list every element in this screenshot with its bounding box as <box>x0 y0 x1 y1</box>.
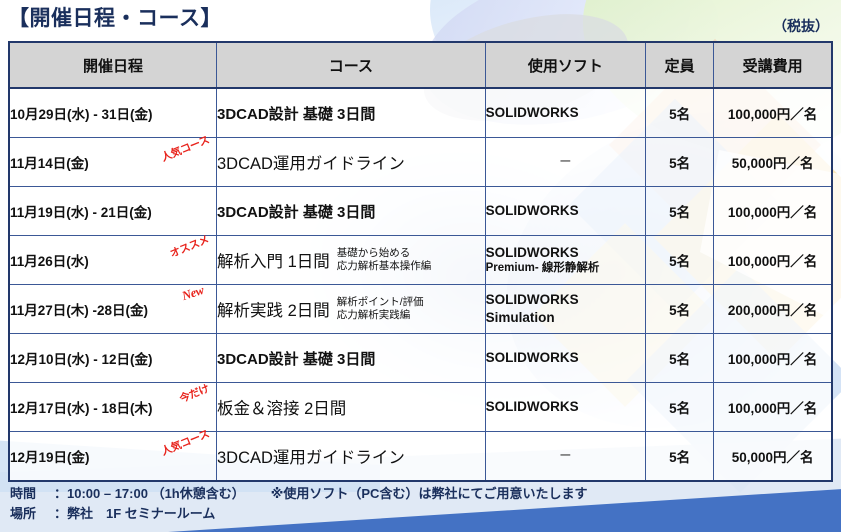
date-text: 12月19日(金) <box>10 450 90 465</box>
course-subtitle-line-1: 基礎から始める <box>337 247 411 259</box>
new-badge: New <box>180 283 206 304</box>
software-line-1: SOLIDWORKS <box>486 105 579 120</box>
cell-date: 12月10日(水) - 12日(金) <box>9 334 217 383</box>
course-title: 3DCAD設計 基礎 3日間 <box>217 201 375 222</box>
software-line-1: SOLIDWORKS <box>486 350 579 365</box>
table-row: 12月10日(水) - 12日(金) 3DCAD設計 基礎 3日間 SOLIDW… <box>9 334 832 383</box>
cell-fee: 50,000円／名 <box>714 432 832 482</box>
cell-course: 3DCAD設計 基礎 3日間 <box>217 334 486 383</box>
course-title: 3DCAD設計 基礎 3日間 <box>217 103 375 124</box>
cell-capacity: 5名 <box>646 432 714 482</box>
cell-fee: 100,000円／名 <box>714 383 832 432</box>
slide-root: 【開催日程・コース】 （税抜） 開催日程 コース 使用ソフト 定員 受講費用 <box>0 0 841 532</box>
cell-fee: 100,000円／名 <box>714 88 832 138</box>
cell-course: 3DCAD設計 基礎 3日間 <box>217 187 486 236</box>
popular-course-badge: 人気コース <box>159 426 211 459</box>
footer-place-label: 場所 <box>10 504 54 524</box>
footer-notes: 時間：10:00 – 17:00 （1h休憩含む）※使用ソフト（PC含む）は弊社… <box>10 484 587 524</box>
date-text: 10月29日(水) - 31日(金) <box>10 107 153 122</box>
cell-fee: 200,000円／名 <box>714 285 832 334</box>
footer-time-line: 時間：10:00 – 17:00 （1h休憩含む）※使用ソフト（PC含む）は弊社… <box>10 484 587 504</box>
software-line-1: SOLIDWORKS <box>486 292 579 307</box>
tax-note: （税抜） <box>773 16 829 36</box>
footer-place-line: 場所：弊社 1F セミナールーム <box>10 504 587 524</box>
cell-capacity: 5名 <box>646 285 714 334</box>
cell-fee: 100,000円／名 <box>714 187 832 236</box>
popular-course-badge: 人気コース <box>159 132 211 165</box>
cell-date: 11月26日(水) オススメ <box>9 236 217 285</box>
cell-software: SOLIDWORKS <box>485 187 645 236</box>
cell-capacity: 5名 <box>646 187 714 236</box>
software-line-1: － <box>559 448 573 463</box>
table-row: 11月19日(水) - 21日(金) 3DCAD設計 基礎 3日間 SOLIDW… <box>9 187 832 236</box>
course-title: 解析入門 1日間 <box>217 248 330 272</box>
recommended-badge: オススメ <box>168 232 211 261</box>
cell-software: SOLIDWORKS <box>485 334 645 383</box>
cell-fee: 100,000円／名 <box>714 236 832 285</box>
cell-date: 10月29日(水) - 31日(金) <box>9 88 217 138</box>
date-text: 11月14日(金) <box>10 156 89 171</box>
software-line-1: SOLIDWORKS <box>486 245 579 260</box>
col-header-fee: 受講費用 <box>714 42 832 88</box>
cell-software: － <box>485 138 645 187</box>
table-header: 開催日程 コース 使用ソフト 定員 受講費用 <box>9 42 832 88</box>
table-row: 11月14日(金) 人気コース 3DCAD運用ガイドライン － 5名 50 <box>9 138 832 187</box>
course-subtitle: 解析ポイント/評価 応力解析実践編 <box>337 296 424 322</box>
cell-date: 11月27日(木) -28日(金) New <box>9 285 217 334</box>
footer-time-value: ：10:00 – 17:00 （1h休憩含む） <box>54 486 245 501</box>
date-text: 11月27日(木) -28日(金) <box>10 303 148 318</box>
footer-place-value: ：弊社 1F セミナールーム <box>54 506 215 521</box>
cell-course: 3DCAD設計 基礎 3日間 <box>217 88 486 138</box>
cell-capacity: 5名 <box>646 383 714 432</box>
cell-capacity: 5名 <box>646 88 714 138</box>
table-row: 11月26日(水) オススメ 解析入門 1日間 基礎から始める 応力解析基本操作… <box>9 236 832 285</box>
date-text: 11月19日(水) - 21日(金) <box>10 205 152 220</box>
date-text: 12月17日(水) - 18日(木) <box>10 401 153 416</box>
schedule-table-wrapper: 開催日程 コース 使用ソフト 定員 受講費用 10月29日(水) - 31日(金… <box>8 41 833 482</box>
course-title: 3DCAD運用ガイドライン <box>217 444 405 468</box>
cell-date: 12月19日(金) 人気コース <box>9 432 217 482</box>
date-text: 12月10日(水) - 12日(金) <box>10 352 153 367</box>
col-header-date: 開催日程 <box>9 42 217 88</box>
cell-course: 3DCAD運用ガイドライン <box>217 138 486 187</box>
cell-software: SOLIDWORKS Simulation <box>485 285 645 334</box>
cell-capacity: 5名 <box>646 334 714 383</box>
cell-software: SOLIDWORKS <box>485 88 645 138</box>
cell-date: 11月19日(水) - 21日(金) <box>9 187 217 236</box>
software-line-1: － <box>559 154 573 169</box>
col-header-software: 使用ソフト <box>485 42 645 88</box>
col-header-capacity: 定員 <box>646 42 714 88</box>
software-line-1: SOLIDWORKS <box>486 399 579 414</box>
course-title: 板金＆溶接 2日間 <box>217 395 346 419</box>
footer-software-note: ※使用ソフト（PC含む）は弊社にてご用意いたします <box>271 486 588 501</box>
cell-date: 11月14日(金) 人気コース <box>9 138 217 187</box>
software-line-2: Premium- 線形静解析 <box>486 261 645 276</box>
table-header-row: 開催日程 コース 使用ソフト 定員 受講費用 <box>9 42 832 88</box>
course-title: 解析実践 2日間 <box>217 297 330 321</box>
cell-software: SOLIDWORKS Premium- 線形静解析 <box>485 236 645 285</box>
schedule-table: 開催日程 コース 使用ソフト 定員 受講費用 10月29日(水) - 31日(金… <box>8 41 833 482</box>
cell-software: － <box>485 432 645 482</box>
course-subtitle-line-1: 解析ポイント/評価 <box>337 296 424 308</box>
limited-time-badge: 今だけ <box>178 381 212 406</box>
cell-fee: 100,000円／名 <box>714 334 832 383</box>
cell-course: 板金＆溶接 2日間 <box>217 383 486 432</box>
course-title: 3DCAD設計 基礎 3日間 <box>217 348 375 369</box>
software-line-2: Simulation <box>486 309 645 327</box>
course-subtitle-line-2: 応力解析基本操作編 <box>337 260 432 272</box>
cell-course: 解析実践 2日間 解析ポイント/評価 応力解析実践編 <box>217 285 486 334</box>
table-row: 10月29日(水) - 31日(金) 3DCAD設計 基礎 3日間 SOLIDW… <box>9 88 832 138</box>
cell-capacity: 5名 <box>646 236 714 285</box>
col-header-course: コース <box>217 42 486 88</box>
table-row: 12月19日(金) 人気コース 3DCAD運用ガイドライン － 5名 50 <box>9 432 832 482</box>
course-title: 3DCAD運用ガイドライン <box>217 150 405 174</box>
cell-fee: 50,000円／名 <box>714 138 832 187</box>
cell-date: 12月17日(水) - 18日(木) 今だけ <box>9 383 217 432</box>
course-subtitle: 基礎から始める 応力解析基本操作編 <box>337 247 432 273</box>
date-text: 11月26日(水) <box>10 254 89 269</box>
cell-software: SOLIDWORKS <box>485 383 645 432</box>
cell-course: 3DCAD運用ガイドライン <box>217 432 486 482</box>
course-subtitle-line-2: 応力解析実践編 <box>337 309 411 321</box>
table-body: 10月29日(水) - 31日(金) 3DCAD設計 基礎 3日間 SOLIDW… <box>9 88 832 481</box>
software-line-1: SOLIDWORKS <box>486 203 579 218</box>
cell-course: 解析入門 1日間 基礎から始める 応力解析基本操作編 <box>217 236 486 285</box>
footer-time-label: 時間 <box>10 484 54 504</box>
table-row: 12月17日(水) - 18日(木) 今だけ 板金＆溶接 2日間 SOLIDWO… <box>9 383 832 432</box>
cell-capacity: 5名 <box>646 138 714 187</box>
page-title: 【開催日程・コース】 <box>8 2 222 32</box>
table-row: 11月27日(木) -28日(金) New 解析実践 2日間 解析ポイント/評価… <box>9 285 832 334</box>
